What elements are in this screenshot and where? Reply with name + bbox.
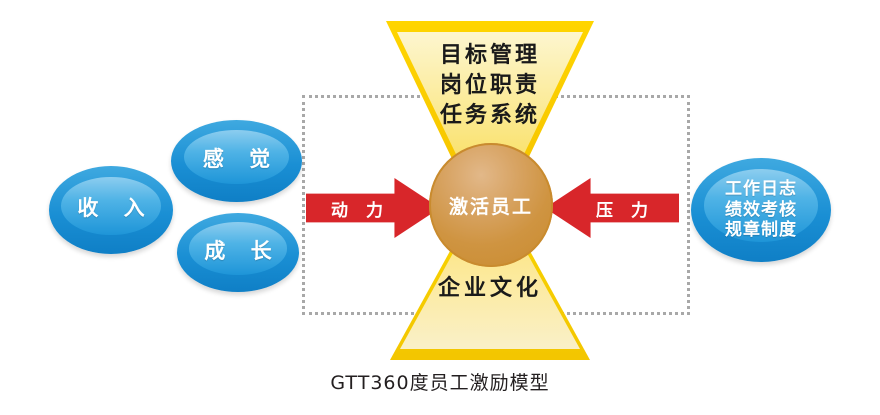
funnel-bottom-label: 企业文化 (390, 270, 590, 302)
ellipse-income[interactable]: 收 入 (49, 166, 173, 254)
funnel-top-label: 目标管理 岗位职责 任务系统 (386, 41, 594, 131)
ellipse-feeling[interactable]: 感 觉 (171, 120, 302, 202)
arrow-pressure-label: 压 力 (545, 196, 679, 221)
ellipse-feeling-label: 感 觉 (194, 147, 279, 172)
arrow-motivation-label: 动 力 (306, 196, 440, 221)
ellipse-management-system-label: 工作日志 绩效考核 规章制度 (725, 179, 797, 241)
diagram-canvas: 目标管理 岗位职责 任务系统 企业文化 动 力 压 力 激活员工 收 入 感 觉… (0, 0, 880, 415)
ellipse-management-system[interactable]: 工作日志 绩效考核 规章制度 (691, 158, 831, 262)
core-circle-label: 激活员工 (449, 192, 533, 219)
diagram-caption: GTT360度员工激励模型 (0, 368, 880, 395)
core-circle-activate-employee[interactable]: 激活员工 (429, 143, 553, 267)
arrow-pressure[interactable]: 压 力 (545, 178, 679, 238)
ellipse-income-label: 收 入 (68, 196, 153, 221)
arrow-motivation[interactable]: 动 力 (306, 178, 440, 238)
ellipse-growth[interactable]: 成 长 (177, 213, 299, 292)
ellipse-growth-label: 成 长 (195, 239, 280, 264)
